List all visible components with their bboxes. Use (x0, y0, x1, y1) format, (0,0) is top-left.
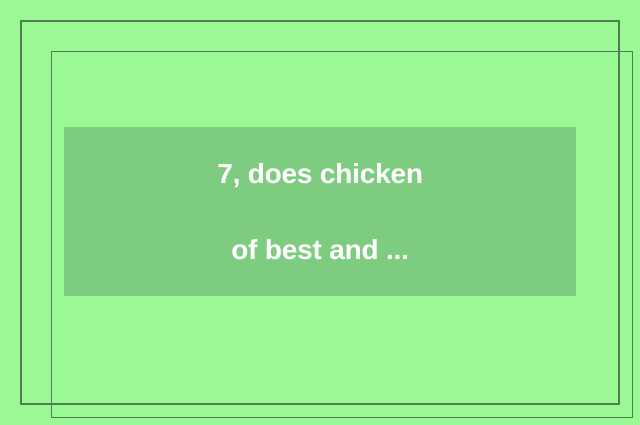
panel-text-line-1: 7, does chicken (217, 155, 423, 193)
panel-text: 7, does chicken of best and ... (217, 117, 423, 307)
screenshot-canvas: 7, does chicken of best and ... (0, 0, 640, 425)
panel-text-line-2: of best and ... (217, 231, 423, 269)
content-panel: 7, does chicken of best and ... (64, 127, 576, 296)
